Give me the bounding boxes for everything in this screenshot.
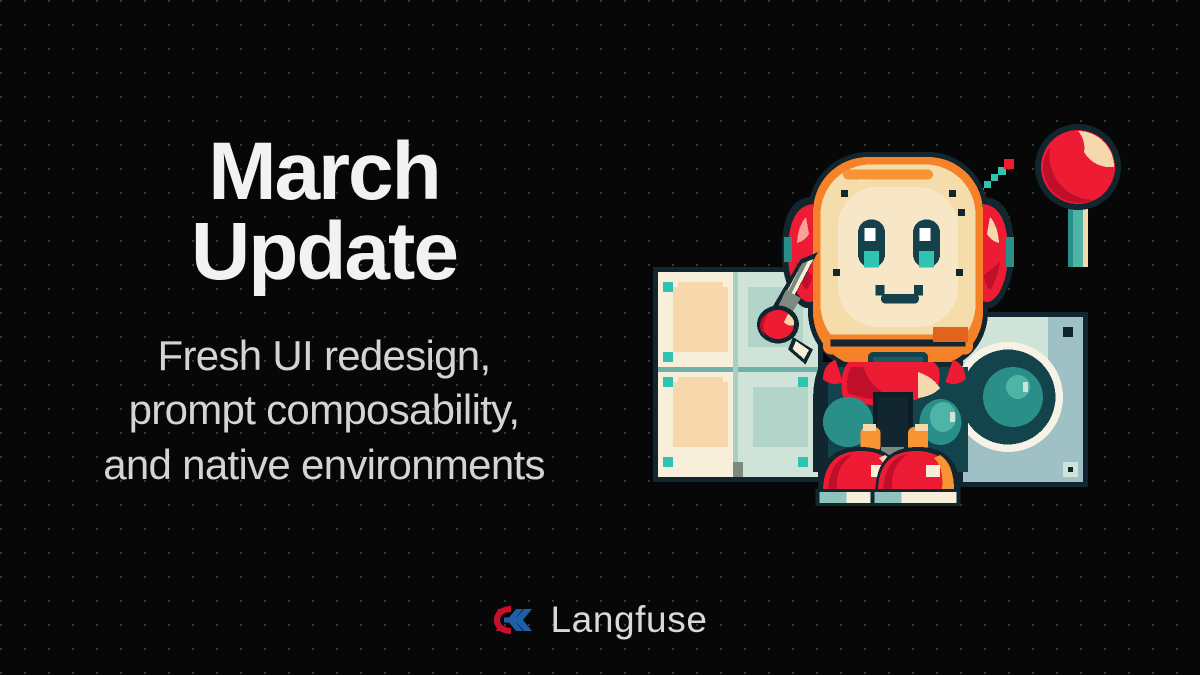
text-column: March Update Fresh UI redesign, prompt c… (0, 132, 648, 493)
robot-svg-layers (653, 124, 1121, 506)
brand-footer: Langfuse (0, 599, 1200, 641)
page-subtitle: Fresh UI redesign, prompt composability,… (103, 329, 545, 493)
march-update-banner: March Update Fresh UI redesign, prompt c… (0, 0, 1200, 675)
robot-head (808, 152, 988, 372)
brand-name: Langfuse (550, 599, 707, 641)
pixel-art-robot-illustration (648, 112, 1128, 522)
balloon-icon (1035, 124, 1121, 267)
robot-boots (816, 447, 961, 506)
langfuse-logo-icon (492, 603, 534, 637)
page-title: March Update (191, 132, 457, 293)
